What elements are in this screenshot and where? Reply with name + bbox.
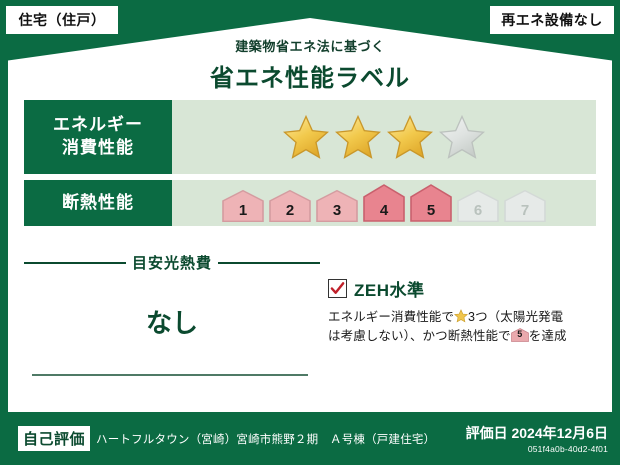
rule-right — [218, 262, 320, 264]
evaluation-id: 051f4a0b-40d2-4f01 — [528, 444, 608, 454]
badge-renewable-equipment: 再エネ設備なし — [490, 6, 614, 34]
insulation-level-5: 5 — [409, 183, 453, 223]
check-icon — [330, 281, 345, 296]
evaluation-date: 評価日 2024年12月6日 — [466, 423, 608, 443]
badge-building-type: 住宅（住戸） — [6, 6, 118, 34]
utility-cost-value: なし — [24, 303, 320, 340]
row-energy-label: エネルギー 消費性能 — [24, 100, 172, 174]
zeh-checkbox[interactable] — [328, 279, 347, 298]
utility-cost-header: 目安光熱費 — [24, 252, 320, 273]
utility-cost-bottom-rule — [32, 374, 308, 376]
row-energy-label-line1: エネルギー — [53, 114, 143, 137]
insulation-level-number: 2 — [268, 202, 312, 219]
star-filled — [387, 114, 433, 160]
rule-left — [24, 262, 126, 264]
mini-house-number: 5 — [511, 328, 529, 342]
star-rating — [283, 114, 485, 160]
self-evaluation-badge: 自己評価 — [18, 426, 90, 451]
mini-house-badge: 5 — [511, 328, 529, 342]
footer: 自己評価 ハートフルタウン（宮崎）宮崎市熊野２期 Ａ号棟（戸建住宅） 評価日 2… — [0, 415, 620, 465]
insulation-level-1: 1 — [221, 189, 265, 223]
row-insulation-performance: 断熱性能 1234567 — [24, 180, 596, 226]
energy-label-card: 住宅（住戸） 再エネ設備なし 建築物省エネ法に基づく 省エネ性能ラベル エネルギ… — [0, 0, 620, 465]
insulation-level-number: 5 — [409, 202, 453, 219]
insulation-level-number: 7 — [503, 202, 547, 219]
utility-cost-title: 目安光熱費 — [132, 252, 212, 273]
rating-rows: エネルギー 消費性能 断熱性能 1234567 — [24, 100, 596, 232]
row-energy-label-line2: 消費性能 — [62, 137, 134, 160]
title-subtitle: 建築物省エネ法に基づく — [0, 36, 620, 55]
utility-cost-block: 目安光熱費 なし — [24, 252, 320, 347]
page-title: 省エネ性能ラベル — [0, 58, 620, 93]
zeh-desc-part2: は考慮しない）、かつ断熱性能で — [328, 329, 511, 343]
row-insulation-label-text: 断熱性能 — [62, 192, 134, 215]
row-insulation-value: 1234567 — [172, 180, 596, 226]
star-empty — [439, 114, 485, 160]
insulation-level-7: 7 — [503, 189, 547, 223]
zeh-description: エネルギー消費性能で 3つ（太陽光発電 は考慮しない）、かつ断熱性能で 5 を達… — [328, 308, 596, 347]
row-insulation-label: 断熱性能 — [24, 180, 172, 226]
zeh-block: ZEH水準 エネルギー消費性能で 3つ（太陽光発電 は考慮しない）、かつ断熱性能… — [320, 252, 596, 347]
insulation-level-3: 3 — [315, 189, 359, 223]
mini-star-icon — [454, 309, 468, 323]
insulation-level-number: 4 — [362, 202, 406, 219]
insulation-level-6: 6 — [456, 189, 500, 223]
star-filled — [335, 114, 381, 160]
property-name: ハートフルタウン（宮崎）宮崎市熊野２期 Ａ号棟（戸建住宅） — [96, 431, 435, 447]
zeh-title: ZEH水準 — [354, 276, 425, 301]
zeh-desc-part3: を達成 — [529, 329, 567, 343]
zeh-desc-part1: エネルギー消費性能で — [328, 310, 454, 324]
zeh-header: ZEH水準 — [328, 276, 596, 301]
star-filled — [283, 114, 329, 160]
lower-section: 目安光熱費 なし ZEH水準 エネルギー消費性能で 3つ（太陽光発電 は考慮しな… — [24, 252, 596, 347]
zeh-desc-stars: 3つ（太陽光発電 — [468, 310, 563, 324]
insulation-level-2: 2 — [268, 189, 312, 223]
row-energy-value — [172, 100, 596, 174]
insulation-level-4: 4 — [362, 183, 406, 223]
insulation-level-number: 3 — [315, 202, 359, 219]
insulation-level-number: 6 — [456, 202, 500, 219]
row-energy-performance: エネルギー 消費性能 — [24, 100, 596, 174]
insulation-level-number: 1 — [221, 202, 265, 219]
insulation-scale: 1234567 — [221, 180, 547, 226]
title-block: 建築物省エネ法に基づく 省エネ性能ラベル — [0, 36, 620, 93]
